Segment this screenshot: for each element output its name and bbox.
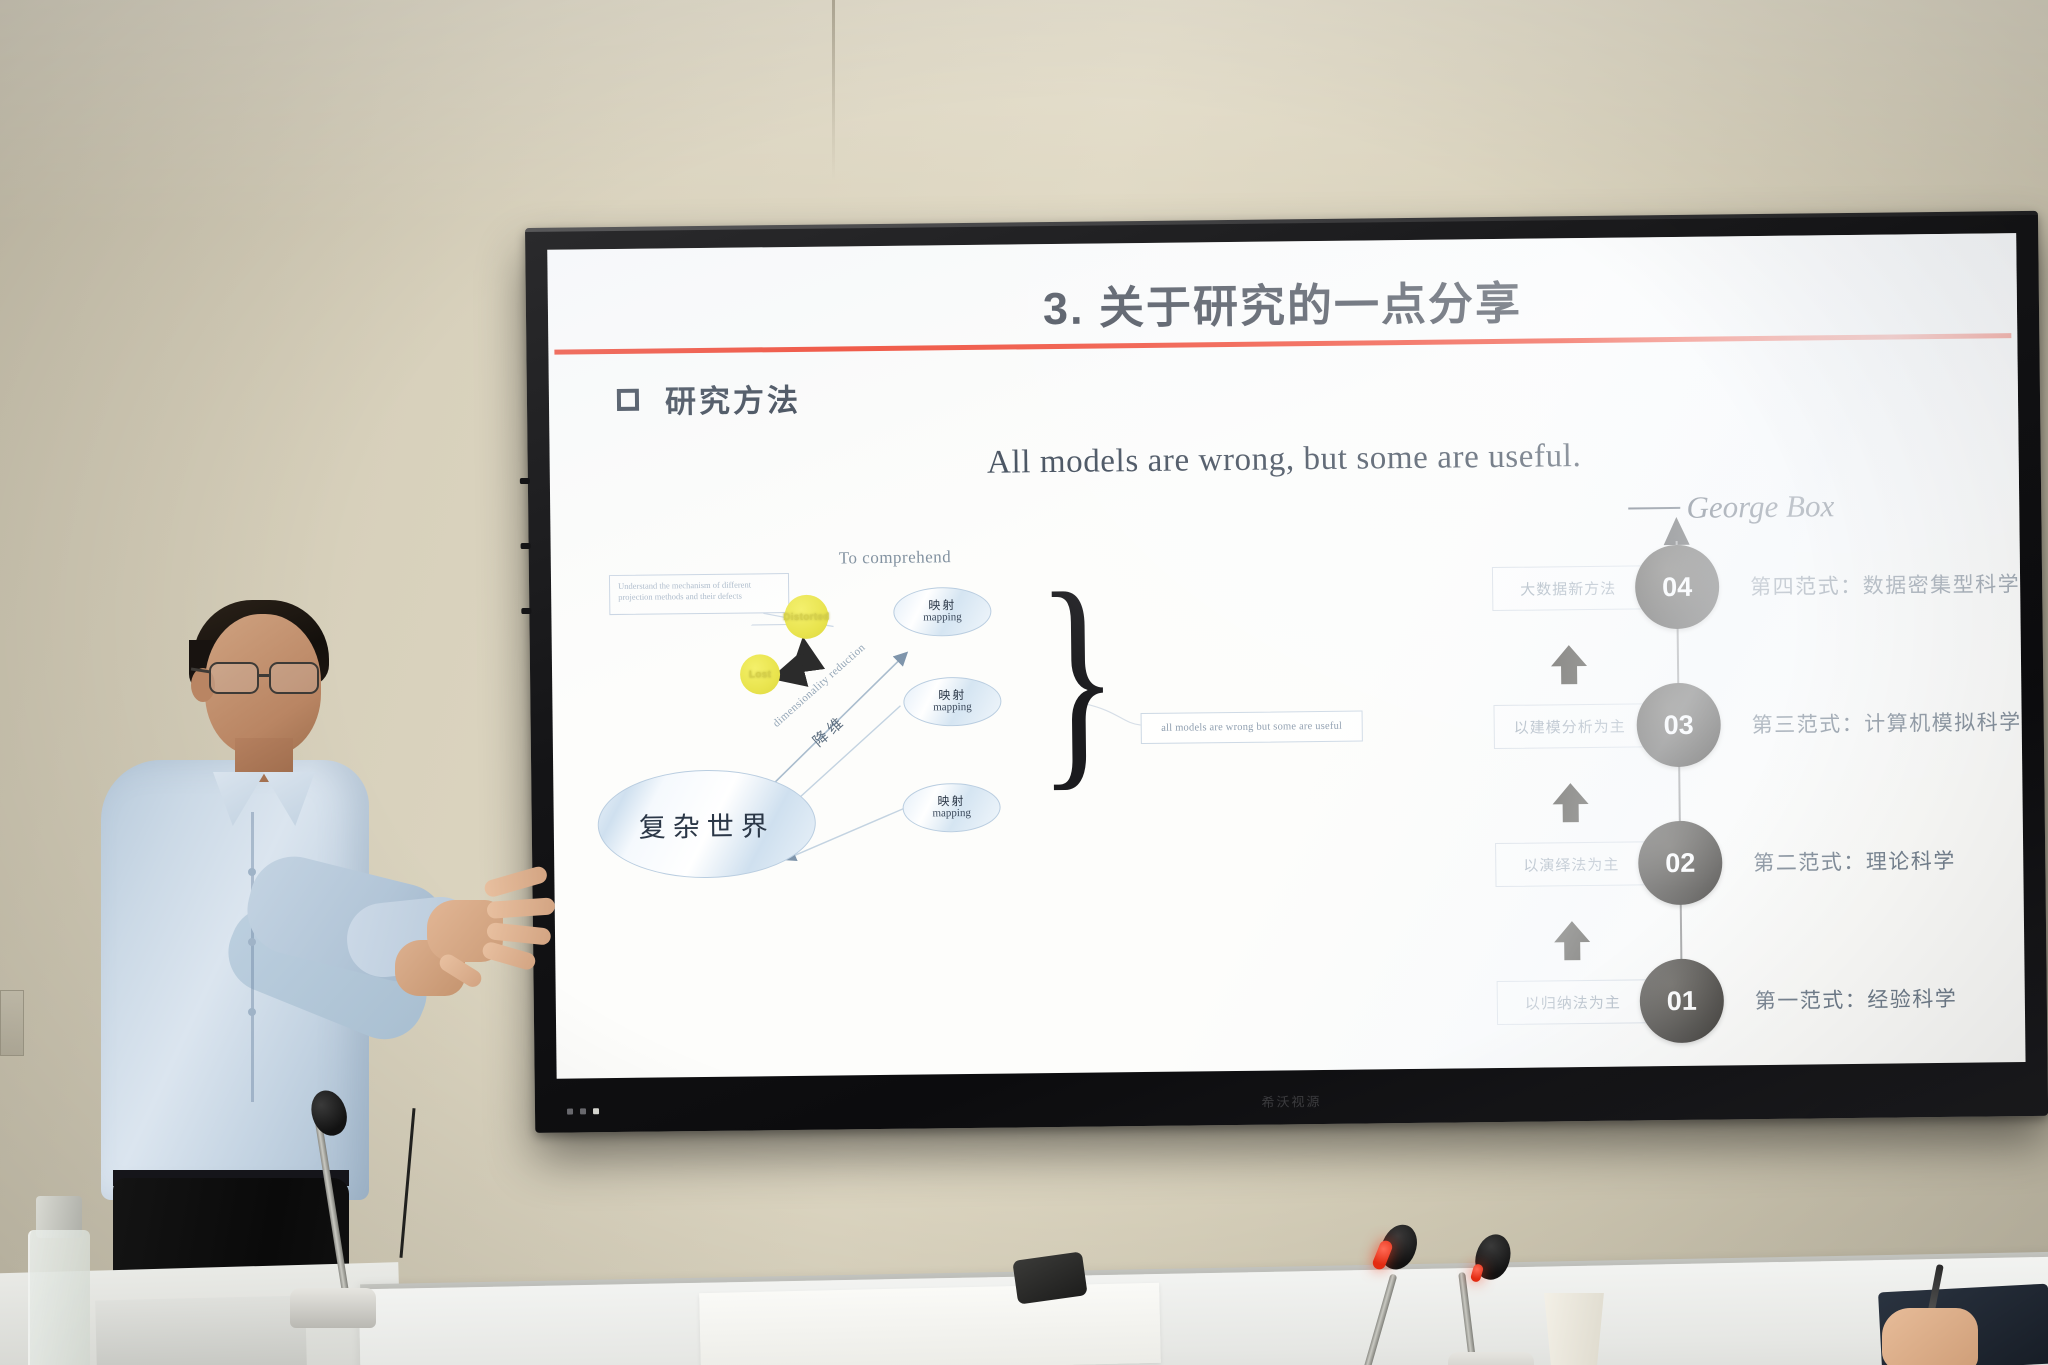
shirt-button-3 [248,1008,256,1016]
interactive-display[interactable]: 3. 关于研究的一点分享 研究方法 All models are wrong, … [525,211,2048,1133]
audience-hand-with-pen [1868,1270,1988,1365]
timeline-row-03: 以建模分析为主 03 第三范式：计算机模拟科学 [1399,685,2000,764]
up-arrow-icon-2 [1548,780,1592,824]
complex-world-label: 复杂世界 [639,804,775,845]
timeline-tag-02: 以演绎法为主 [1495,841,1647,887]
mapping-node-1-en: mapping [923,612,962,624]
presenter-shirt-placket [251,812,254,1102]
em-dash-icon [1628,507,1680,510]
audience-hand [1882,1308,1978,1365]
lecture-room-scene: 3. 关于研究的一点分享 研究方法 All models are wrong, … [0,0,2048,1365]
microphone-podium[interactable] [250,1100,450,1365]
timeline-desc-03: 第三范式：计算机模拟科学 [1752,706,2022,739]
timeline-row-02: 以演绎法为主 02 第二范式：理论科学 [1401,823,2002,902]
microphone-delegate-2[interactable] [1430,1212,1630,1365]
mapping-diagram: To comprehend Understand the mechanism o… [587,540,1423,1069]
timeline-node-02: 02 [1638,820,1723,905]
paradigm-timeline: 大数据新方法 04 第四范式：数据密集型科学 以建模分析为主 03 第三范式：计… [1398,525,2004,1052]
glasses-bridge [259,674,271,677]
quote-text: All models are wrong, but some are usefu… [550,433,2019,487]
timeline-desc-01: 第一范式：经验科学 [1755,983,1958,1015]
finger-4 [481,940,538,971]
timeline-row-04: 大数据新方法 04 第四范式：数据密集型科学 [1398,547,1999,626]
mic-base-3 [1448,1352,1534,1365]
lost-node: Lost [740,654,780,694]
timeline-tag-01: 以归纳法为主 [1497,979,1649,1025]
wall-highlight [0,0,2048,230]
quote-attribution: George Box [1628,488,1834,526]
presenter-right-hand [425,872,551,974]
section-heading: 研究方法 [617,375,801,422]
presentation-slide: 3. 关于研究的一点分享 研究方法 All models are wrong, … [547,233,2025,1079]
up-arrow-icon-3 [1550,918,1594,962]
square-bullet-icon [617,388,639,410]
timeline-tag-03: 以建模分析为主 [1493,703,1645,749]
shirt-button-1 [248,868,256,876]
led-3 [593,1108,599,1114]
bottle-body [28,1230,90,1365]
mic-base-1 [290,1288,376,1328]
distorted-node: Distorted [784,595,828,639]
timeline-node-03: 03 [1636,682,1721,767]
glasses-left-lens [209,662,259,694]
finger-2 [486,897,555,919]
timeline-node-01: 01 [1639,958,1724,1043]
up-arrow-icon-1 [1547,642,1591,686]
display-side-button-1[interactable] [520,478,530,484]
timeline-row-01: 以归纳法为主 01 第一范式：经验科学 [1402,961,2003,1040]
to-comprehend-label: To comprehend [839,547,952,568]
timeline-node-04: 04 [1635,544,1720,629]
timeline-desc-04: 第四范式：数据密集型科学 [1750,568,2020,601]
lost-label: Lost [749,669,771,680]
callout-box: Understand the mechanism of different pr… [609,573,789,615]
glasses-icon [207,662,335,696]
timeline-desc-02: 第二范式：理论科学 [1753,845,1956,877]
led-2 [580,1108,586,1114]
timeline-tag-04: 大数据新方法 [1492,565,1644,611]
display-screen[interactable]: 3. 关于研究的一点分享 研究方法 All models are wrong, … [547,233,2025,1079]
mapping-node-3-en: mapping [932,808,971,820]
water-bottle [28,1196,90,1365]
summary-box: all models are wrong but some are useful [1141,711,1363,745]
mapping-node-2-en: mapping [933,702,972,714]
section-heading-label: 研究方法 [665,375,802,422]
mic-indicator-led-3 [1470,1263,1485,1283]
shirt-button-2 [248,938,256,946]
quote-attribution-label: George Box [1686,488,1834,526]
papers-on-table [699,1283,1161,1365]
glasses-right-lens [269,662,319,694]
paper-cup [1540,1293,1608,1365]
distorted-label: Distorted [783,611,830,623]
mic-gooseneck-1 [314,1115,349,1294]
wall-socket [0,990,24,1056]
curly-brace-icon: } [1036,571,1119,783]
wall-seam [832,0,835,180]
page-title: 3. 关于研究的一点分享 [548,261,2018,343]
finger-1 [483,865,549,899]
display-brand-label: 希沃视源 [1261,1091,1321,1111]
display-side-button-2[interactable] [521,543,531,549]
mic-gooseneck-2 [1358,1273,1398,1365]
